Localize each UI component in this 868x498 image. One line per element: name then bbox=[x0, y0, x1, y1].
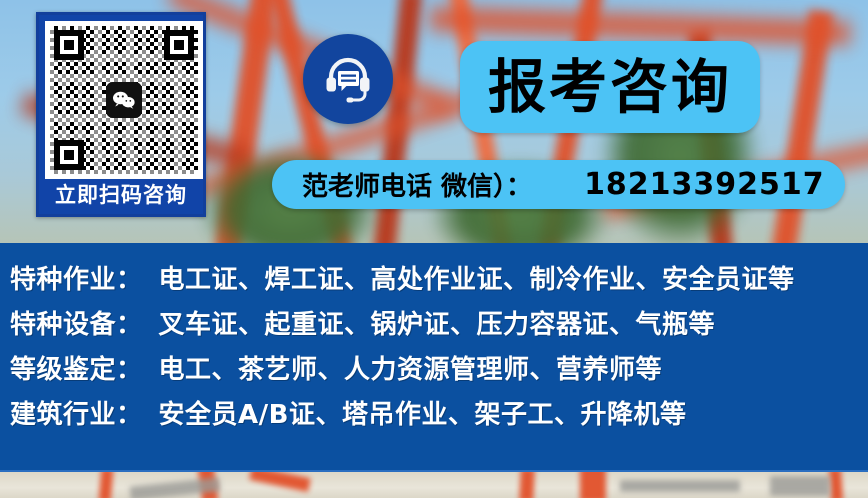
qr-finder-top-left bbox=[54, 30, 84, 60]
category-label: 等级鉴定： bbox=[10, 349, 143, 386]
category-label: 建筑行业： bbox=[10, 394, 143, 431]
qr-code-card[interactable]: 立即扫码咨询 bbox=[36, 12, 206, 217]
wechat-icon bbox=[106, 82, 142, 118]
contact-label: 范老师电话 微信）： bbox=[302, 166, 532, 203]
certificate-categories-panel: 特种作业： 电工证、焊工证、高处作业证、制冷作业、安全员证等 特种设备： 叉车证… bbox=[0, 243, 868, 472]
title-badge-text: 报考咨询 bbox=[488, 58, 732, 116]
category-row: 建筑行业： 安全员A/B证、塔吊作业、架子工、升降机等 bbox=[0, 394, 868, 439]
category-row: 特种作业： 电工证、焊工证、高处作业证、制冷作业、安全员证等 bbox=[0, 259, 868, 304]
qr-card-label: 立即扫码咨询 bbox=[39, 178, 203, 212]
category-row: 等级鉴定： 电工、茶艺师、人力资源管理师、营养师等 bbox=[0, 349, 868, 394]
crane-beam bbox=[99, 472, 114, 498]
qr-matrix bbox=[50, 26, 198, 174]
ground-shadow bbox=[620, 480, 740, 492]
title-badge[interactable]: 报考咨询 bbox=[460, 41, 760, 133]
headset-support-icon[interactable] bbox=[303, 34, 393, 124]
promotional-poster: 立即扫码咨询 报考咨询 范老师电话 微信）： 18213392517 bbox=[0, 0, 868, 498]
crane-beam bbox=[829, 472, 843, 498]
category-items: 电工证、焊工证、高处作业证、制冷作业、安全员证等 bbox=[159, 259, 795, 296]
ground-shadow bbox=[770, 476, 830, 496]
category-items: 电工、茶艺师、人力资源管理师、营养师等 bbox=[159, 349, 663, 386]
crane-beam bbox=[580, 472, 606, 498]
qr-finder-bottom-left bbox=[54, 140, 84, 170]
crane-beam bbox=[519, 472, 535, 498]
bottom-photo-strip bbox=[0, 472, 868, 498]
category-items: 叉车证、起重证、锅炉证、压力容器证、气瓶等 bbox=[159, 304, 716, 341]
contact-phone-number[interactable]: 18213392517 bbox=[584, 167, 825, 202]
qr-finder-top-right bbox=[164, 30, 194, 60]
crane-beam bbox=[249, 472, 311, 492]
category-row: 特种设备： 叉车证、起重证、锅炉证、压力容器证、气瓶等 bbox=[0, 304, 868, 349]
qr-code-image[interactable] bbox=[45, 21, 203, 179]
contact-badge[interactable]: 范老师电话 微信）： 18213392517 bbox=[272, 160, 845, 209]
category-items: 安全员A/B证、塔吊作业、架子工、升降机等 bbox=[159, 394, 687, 431]
category-label: 特种作业： bbox=[10, 259, 143, 296]
category-label: 特种设备： bbox=[10, 304, 143, 341]
